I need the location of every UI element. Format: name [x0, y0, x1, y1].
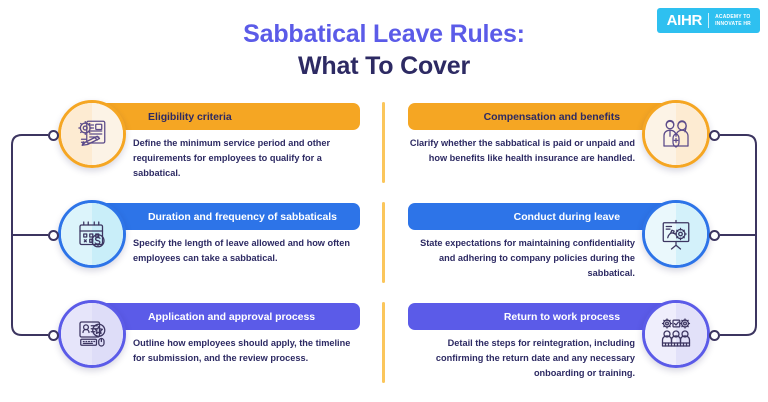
rule-icon-circle [642, 100, 710, 168]
rule-title: Duration and frequency of sabbaticals [148, 211, 337, 223]
rule-title-pill: Compensation and benefits [408, 103, 668, 130]
rule-card[interactable]: Conduct during leave State expectations … [386, 195, 746, 295]
rules-row: Duration and frequency of sabbaticals Sp… [0, 195, 768, 295]
rules-grid: Eligibility criteria Define the minimum … [0, 95, 768, 395]
rule-icon-circle [58, 300, 126, 368]
connector-node [709, 230, 720, 241]
rule-body: Define the minimum service period and ot… [133, 136, 361, 181]
rule-icon-circle [58, 100, 126, 168]
rule-body: Outline how employees should apply, the … [133, 336, 361, 366]
rule-body: Specify the length of leave allowed and … [133, 236, 361, 266]
rule-icon-circle [58, 200, 126, 268]
rule-title-pill: Eligibility criteria [100, 103, 360, 130]
rule-title: Application and approval process [148, 311, 315, 323]
rule-title-pill: Application and approval process [100, 303, 360, 330]
rule-body: Clarify whether the sabbatical is paid o… [407, 136, 635, 166]
page-title-line-1: Sabbatical Leave Rules: [0, 18, 768, 50]
connector-node [709, 330, 720, 341]
rule-title: Compensation and benefits [484, 111, 620, 123]
rule-card[interactable]: Application and approval process Outline… [22, 295, 382, 395]
rule-card[interactable]: Return to work process Detail the steps … [386, 295, 746, 395]
rule-title: Conduct during leave [514, 211, 620, 223]
people-health-shield-icon [658, 116, 694, 152]
connector-node [48, 130, 59, 141]
page-title-line-2: What To Cover [0, 50, 768, 82]
rule-card[interactable]: Compensation and benefits Clarify whethe… [386, 95, 746, 195]
connector-node [48, 230, 59, 241]
row-divider [382, 102, 385, 183]
rule-icon-circle [642, 300, 710, 368]
document-gear-pencil-icon [74, 116, 110, 152]
rules-row: Eligibility criteria Define the minimum … [0, 95, 768, 195]
rule-title-pill: Duration and frequency of sabbaticals [100, 203, 360, 230]
rule-title-pill: Return to work process [408, 303, 668, 330]
computer-application-star-icon [74, 316, 110, 352]
rule-body: Detail the steps for reintegration, incl… [407, 336, 635, 381]
rule-body: State expectations for maintaining confi… [407, 236, 635, 281]
team-gears-checklist-icon [658, 316, 694, 352]
rule-title: Return to work process [504, 311, 620, 323]
rules-row: Application and approval process Outline… [0, 295, 768, 395]
rule-title: Eligibility criteria [148, 111, 232, 123]
calendar-money-icon [74, 216, 110, 252]
rule-card[interactable]: Duration and frequency of sabbaticals Sp… [22, 195, 382, 295]
row-divider [382, 202, 385, 283]
rule-card[interactable]: Eligibility criteria Define the minimum … [22, 95, 382, 195]
rule-title-pill: Conduct during leave [408, 203, 668, 230]
connector-node [48, 330, 59, 341]
connector-node [709, 130, 720, 141]
row-divider [382, 302, 385, 383]
page-title: Sabbatical Leave Rules: What To Cover [0, 18, 768, 82]
presentation-board-gear-icon [658, 216, 694, 252]
rule-icon-circle [642, 200, 710, 268]
